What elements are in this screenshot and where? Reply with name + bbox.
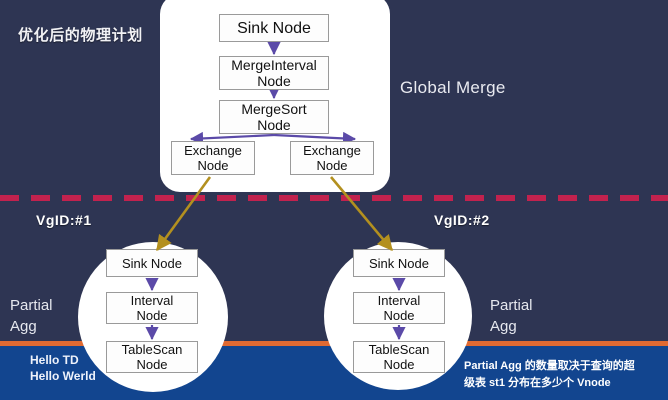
node-label: MergeSort Node: [241, 101, 306, 133]
slide-canvas: 优化后的物理计划 Global Merge: [0, 0, 668, 400]
node-vnode2-sink[interactable]: Sink Node: [353, 249, 445, 277]
watermark-line-1: Hello TD: [30, 352, 96, 368]
node-vnode2-interval[interactable]: Interval Node: [353, 292, 445, 324]
dashed-separator: [0, 195, 668, 201]
node-global-sink[interactable]: Sink Node: [219, 14, 329, 42]
footnote-line-2: 级表 st1 分布在多少个 Vnode: [464, 375, 664, 392]
node-label: MergeInterval Node: [231, 57, 317, 89]
vgid-1-label: VgID:#1: [36, 212, 92, 228]
page-title: 优化后的物理计划: [18, 24, 143, 45]
node-global-exchange-right[interactable]: Exchange Node: [290, 141, 374, 175]
node-label: Exchange Node: [303, 143, 361, 173]
partial-agg-right-line2: Agg: [490, 316, 533, 337]
footnote-line-1: Partial Agg 的数量取决于查询的超: [464, 358, 664, 375]
node-vnode1-sink[interactable]: Sink Node: [106, 249, 198, 277]
partial-agg-left-line1: Partial: [10, 295, 53, 316]
node-label: Interval Node: [131, 293, 174, 323]
vgid-2-label: VgID:#2: [434, 212, 490, 228]
node-label: Interval Node: [378, 293, 421, 323]
node-global-merge-sort[interactable]: MergeSort Node: [219, 100, 329, 134]
global-merge-label: Global Merge: [400, 78, 506, 98]
partial-agg-label-right: Partial Agg: [490, 295, 533, 337]
watermark-line-2: Hello Werld: [30, 368, 96, 384]
node-label: Exchange Node: [184, 143, 242, 173]
footnote-text: Partial Agg 的数量取决于查询的超 级表 st1 分布在多少个 Vno…: [464, 358, 664, 392]
partial-agg-label-left: Partial Agg: [10, 295, 53, 337]
partial-agg-right-line1: Partial: [490, 295, 533, 316]
node-label: TableScan Node: [122, 342, 183, 372]
node-vnode2-tablescan[interactable]: TableScan Node: [353, 341, 445, 373]
node-vnode1-tablescan[interactable]: TableScan Node: [106, 341, 198, 373]
node-vnode1-interval[interactable]: Interval Node: [106, 292, 198, 324]
node-global-merge-interval[interactable]: MergeInterval Node: [219, 56, 329, 90]
partial-agg-left-line2: Agg: [10, 316, 53, 337]
node-label: TableScan Node: [369, 342, 430, 372]
watermark-text: Hello TD Hello Werld: [30, 352, 96, 384]
node-global-exchange-left[interactable]: Exchange Node: [171, 141, 255, 175]
